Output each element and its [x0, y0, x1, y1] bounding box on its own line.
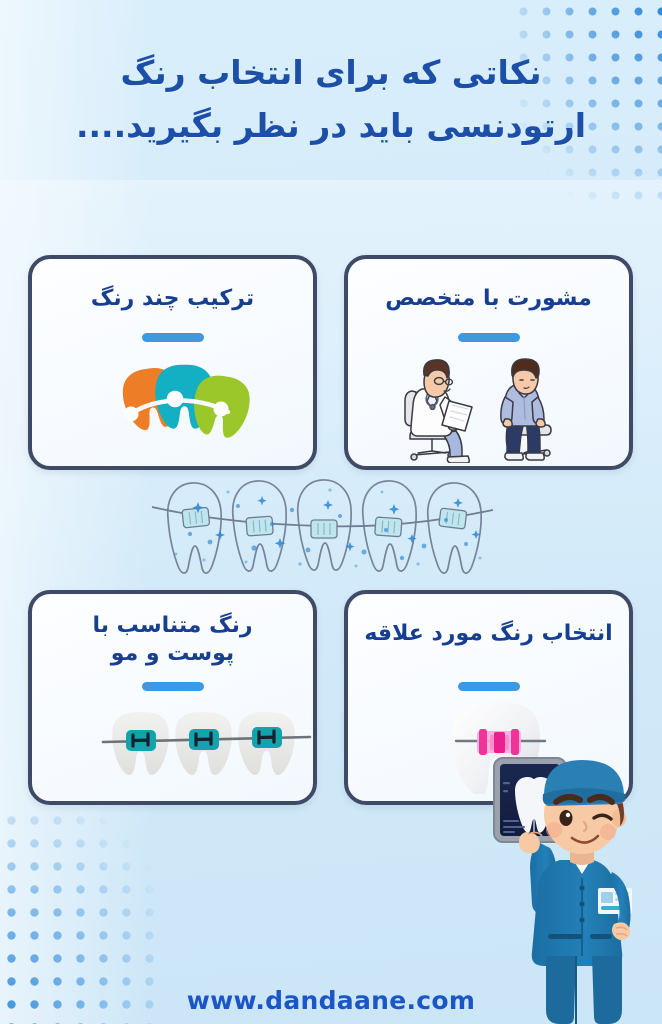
card-2-title: مشورت با متخصص — [348, 285, 629, 313]
card-multicolor-combination[interactable]: ترکیب چند رنگ — [28, 255, 317, 470]
doctor-patient-illustration — [348, 345, 629, 463]
card-3-title-line-1: رنگ متناسب با — [92, 613, 252, 638]
card-1-divider — [142, 333, 204, 342]
card-skin-hair-matching-color[interactable]: رنگ متناسب با پوست و مو — [28, 590, 317, 805]
card-3-title: رنگ متناسب با پوست و مو — [32, 612, 313, 668]
card-specialist-consultation[interactable]: مشورت با متخصص — [344, 255, 633, 470]
card-1-title: ترکیب چند رنگ — [32, 285, 313, 313]
card-4-divider — [458, 682, 520, 691]
card-4-title: انتخاب رنگ مورد علاقه — [348, 620, 629, 648]
footer-website-url[interactable]: www.dandaane.com — [0, 986, 662, 1015]
page-title: نکاتی که برای انتخاب رنگ ارتودنسی باید د… — [0, 46, 662, 153]
multicolor-teeth-icon — [32, 355, 313, 455]
card-2-divider — [458, 333, 520, 342]
page-title-line-1: نکاتی که برای انتخاب رنگ — [0, 46, 662, 99]
page-title-line-2: ارتودنسی باید در نظر بگیرید.... — [0, 99, 662, 152]
dentist-head — [543, 760, 626, 854]
dentist-character-illustration — [486, 742, 662, 1024]
teeth-with-teal-braces-icon — [32, 704, 313, 792]
braces-teeth-strip-decoration — [150, 472, 495, 578]
infographic-canvas: نکاتی که برای انتخاب رنگ ارتودنسی باید د… — [0, 0, 662, 1024]
card-3-title-line-2: پوست و مو — [111, 641, 234, 666]
card-3-divider — [142, 682, 204, 691]
